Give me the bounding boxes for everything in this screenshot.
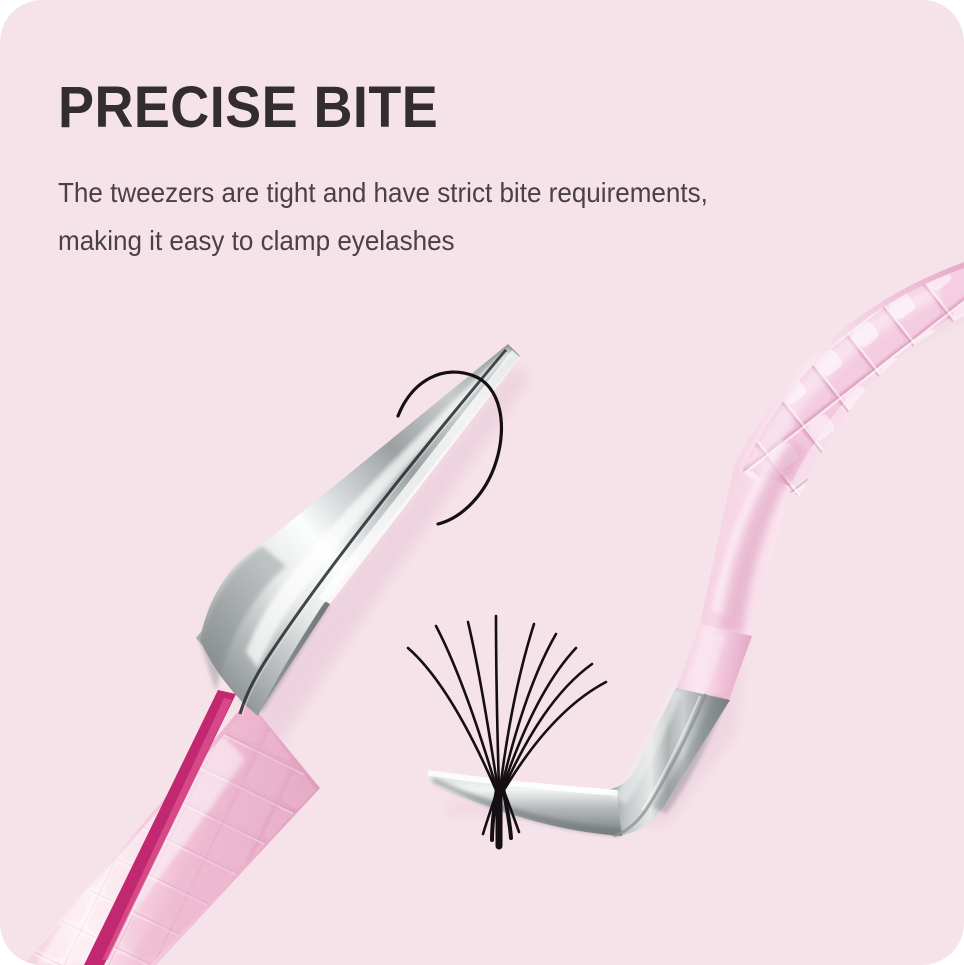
left-tweezer-handle: [0, 690, 360, 965]
headline-block: PRECISE BITE The tweezers are tight and …: [58, 78, 848, 265]
product-feature-card: PRECISE BITE The tweezers are tight and …: [0, 0, 964, 965]
right-tweezer-handle: [676, 258, 964, 702]
description-line-1: The tweezers are tight and have strict b…: [58, 169, 793, 217]
description-line-2: making it easy to clamp eyelashes: [58, 217, 793, 265]
left-tweezer-tip: [200, 344, 520, 716]
description-text: The tweezers are tight and have strict b…: [58, 137, 793, 265]
page-title: PRECISE BITE: [58, 78, 793, 137]
